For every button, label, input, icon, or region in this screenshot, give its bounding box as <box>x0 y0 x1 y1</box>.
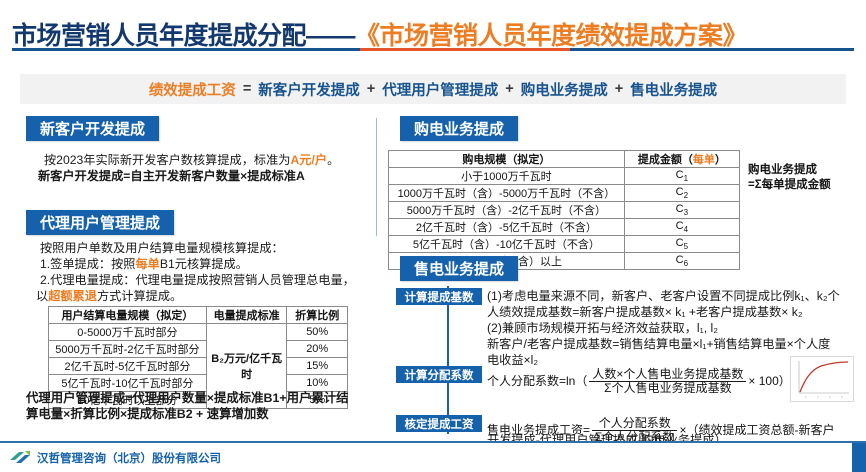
table-row: 2亿千瓦时（含）-5亿千瓦时（不含） C4 <box>389 219 740 236</box>
amount-index: 6 <box>684 259 688 268</box>
title-highlight: 《市场营销人员年度绩效提成方案》 <box>355 22 747 50</box>
step-chip-base: 计算提成基数 <box>396 288 482 305</box>
agent-user-formula-line1: 代理用户管理提成=代理用户数量×提成标准B1+用户累计结 <box>26 390 376 406</box>
coefficient-formula: 个人分配系数=ln（ 人数×个人售电业务提成基数 Σ个人售电业务提成基数 × 1… <box>487 368 791 395</box>
title-text: 市场营销人员年度提成分配——《市场营销人员年度绩效提成方案》 <box>12 16 747 52</box>
section-banner-power-purchase: 购电业务提成 <box>400 116 518 141</box>
cell-scale: 0-5000万千瓦时部分 <box>49 324 207 341</box>
table-row: 5000万千瓦时（含）-2亿千瓦时（不含） C3 <box>389 202 740 219</box>
agent-user-line2: 1.签单提成：按照每单B1元核算提成。 <box>40 256 380 272</box>
title-main: 市场营销人员年度提成分配—— <box>12 22 355 50</box>
agent-user-line1: 按照用户单数及用户结算电量规模核算提成： <box>40 240 380 256</box>
cell-purchase-scale: 1000万千瓦时（含）-5000万千瓦时（不含） <box>389 185 625 202</box>
coefficient-fraction: 人数×个人售电业务提成基数 Σ个人售电业务提成基数 <box>589 368 746 395</box>
col-header-ratio: 折算比例 <box>287 307 348 324</box>
cell-amount: C4 <box>624 219 739 236</box>
power-purchase-note-line2: =Σ每单提成金额 <box>748 178 831 193</box>
amount-symbol: C <box>676 169 684 181</box>
amount-index: 4 <box>684 225 688 234</box>
sale-base-line1: (1)考虑电量来源不同，新客户、老客户设置不同提成比例k₁、k₂个 <box>487 288 866 304</box>
formula-plus-1: + <box>367 81 375 97</box>
table-row: 1000万千瓦时（含）-5000万千瓦时（不含） C2 <box>389 185 740 202</box>
formula-plus-2: + <box>505 81 513 97</box>
coefficient-numerator: 人数×个人售电业务提成基数 <box>589 368 746 382</box>
amount-header-highlight: 每单 <box>693 154 715 166</box>
amount-symbol: C <box>676 186 684 198</box>
table-row: 0-5000万千瓦时部分 B₂万元/亿千瓦时 50% <box>49 324 348 341</box>
agent-user-formula-line2: 算电量×折算比例×提成标准B2 + 速算增加数 <box>26 406 376 422</box>
step-chip-wage: 核定提成工资 <box>396 415 482 432</box>
cell-ratio: 15% <box>287 358 348 375</box>
new-customer-desc-suffix: 。 <box>327 153 339 167</box>
cell-scale: 2亿千瓦时-5亿千瓦时部分 <box>49 358 207 375</box>
table-row: 小于1000万千瓦时 C1 <box>389 168 740 185</box>
col-header-standard: 电量提成标准 <box>206 307 287 324</box>
logo-glyph <box>8 449 32 466</box>
cell-scale: 5000万千瓦时-2亿千瓦时部分 <box>49 341 207 358</box>
formula-term-1: 新客户开发提成 <box>258 79 360 100</box>
svg-text:4: 4 <box>841 395 843 399</box>
table-row: 5000万千瓦时-2亿千瓦时部分 20% <box>49 341 348 358</box>
formula-term-3: 购电业务提成 <box>521 79 608 100</box>
cell-amount: C3 <box>624 202 739 219</box>
col-header-amount: 提成金额（每单） <box>624 151 739 168</box>
sale-base-line2: 人绩效提成基数=新客户提成基数× k₁ +老客户提成基数× k₂ <box>487 304 866 320</box>
power-purchase-note: 购电业务提成 =Σ每单提成金额 <box>748 163 831 193</box>
amount-symbol: C <box>676 203 684 215</box>
amount-index: 1 <box>684 174 688 183</box>
formula-term-2: 代理用户管理提成 <box>382 79 498 100</box>
col-header-scale: 用户结算电量规模（拟定） <box>49 307 207 324</box>
log-curve-icon: 1234 <box>791 357 853 401</box>
wage-numerator: 个人分配系数 <box>592 417 677 431</box>
formula-term-4: 售电业务提成 <box>630 79 717 100</box>
new-customer-desc: 按2023年实际新开发客户数核算提成，标准为A元/户。 <box>44 152 374 168</box>
agent-user-line4: 以超额累退方式计算提成。 <box>36 288 382 304</box>
table-row: 2亿千瓦时-5亿千瓦时部分 15% <box>49 358 348 375</box>
agent-user-line4-b: 方式计算提成。 <box>97 289 182 303</box>
agent-user-line4-highlight: 超额累退 <box>48 289 97 303</box>
svg-text:2: 2 <box>817 395 819 399</box>
amount-index: 3 <box>684 208 688 217</box>
slide-title: 市场营销人员年度提成分配——《市场营销人员年度绩效提成方案》 <box>0 4 866 48</box>
footer-company-name: 汉哲管理咨询（北京）股份有限公司 <box>37 450 221 466</box>
cell-ratio: 20% <box>287 341 348 358</box>
cell-purchase-scale: 5亿千瓦时（含）-10亿千瓦时（不含） <box>389 236 625 253</box>
amount-index: 5 <box>684 242 688 251</box>
title-underline-accent <box>360 48 570 51</box>
svg-text:1: 1 <box>805 395 807 399</box>
cell-purchase-scale: 2亿千瓦时（含）-5亿千瓦时（不含） <box>389 219 625 236</box>
sale-base-line4: 新客户/老客户提成基数=销售结算电量×l₁+销售结算电量×个人度 <box>487 336 866 352</box>
table-header-row: 购电规模（拟定） 提成金额（每单） <box>389 151 740 168</box>
cell-scale: 5亿千瓦时-10亿千瓦时部分 <box>49 375 207 392</box>
new-customer-standard: A元/户 <box>291 153 328 167</box>
log-curve-thumbnail: 1234 <box>790 356 854 402</box>
amount-symbol: C <box>676 237 684 249</box>
formula-equals: = <box>243 81 251 97</box>
agent-user-line2-highlight: 每单 <box>135 257 159 271</box>
cell-purchase-scale: 小于1000万千瓦时 <box>389 168 625 185</box>
footer-corner-accent <box>852 443 866 472</box>
cell-amount: C2 <box>624 185 739 202</box>
amount-index: 2 <box>684 191 688 200</box>
col-header-purchase-scale: 购电规模（拟定） <box>389 151 625 168</box>
svg-text:3: 3 <box>829 395 831 399</box>
cell-purchase-scale: 5000万千瓦时（含）-2亿千瓦时（不含） <box>389 202 625 219</box>
agent-user-line2-a: 1.签单提成：按照 <box>40 257 135 271</box>
amount-symbol: C <box>676 220 684 232</box>
agent-user-line3: 2.代理电量提成：代理电量提成按照营销人员管理总电量， <box>40 272 386 288</box>
amount-header-prefix: 提成金额（ <box>638 154 693 166</box>
cell-ratio: 10% <box>287 375 348 392</box>
section-banner-agent-user: 代理用户管理提成 <box>26 210 174 235</box>
company-logo-icon <box>8 449 32 466</box>
formula-subject: 绩效提成工资 <box>149 79 236 100</box>
amount-header-suffix: ） <box>715 154 726 166</box>
table-header-row: 用户结算电量规模（拟定） 电量提成标准 折算比例 <box>49 307 348 324</box>
slide-root: 市场营销人员年度提成分配——《市场营销人员年度绩效提成方案》 绩效提成工资 = … <box>0 0 866 472</box>
cell-amount: C6 <box>624 253 739 270</box>
coefficient-lead: 个人分配系数=ln（ <box>487 374 587 389</box>
sale-base-line3: (2)兼顾市场规模开拓与经济效益获取，l₁, l₂ <box>487 320 866 336</box>
new-customer-desc-prefix: 按2023年实际新开发客户数核算提成，标准为 <box>44 153 291 167</box>
coefficient-tail: × 100） <box>748 374 790 389</box>
new-customer-formula: 新客户开发提成=自主开发新客户数量×提成标准A <box>38 168 378 184</box>
formula-plus-3: + <box>615 81 623 97</box>
cell-amount: C5 <box>624 236 739 253</box>
agent-user-line4-a: 以 <box>36 289 48 303</box>
cell-ratio: 50% <box>287 324 348 341</box>
table-row: 5亿千瓦时-10亿千瓦时部分 10% <box>49 375 348 392</box>
sell-steps-rail <box>447 286 449 434</box>
summary-formula-bar: 绩效提成工资 = 新客户开发提成 + 代理用户管理提成 + 购电业务提成 + 售… <box>20 74 846 104</box>
table-row: 5亿千瓦时（含）-10亿千瓦时（不含） C5 <box>389 236 740 253</box>
power-purchase-table: 购电规模（拟定） 提成金额（每单） 小于1000万千瓦时 C1 1000万千瓦时… <box>388 150 740 270</box>
agent-user-line2-b: B1元核算提成。 <box>160 257 248 271</box>
cell-amount: C1 <box>624 168 739 185</box>
power-purchase-note-line1: 购电业务提成 <box>748 163 831 178</box>
coefficient-denominator: Σ个人售电业务提成基数 <box>589 382 746 395</box>
amount-symbol: C <box>676 254 684 266</box>
step-chip-coefficient: 计算分配系数 <box>396 366 482 383</box>
section-banner-new-customer: 新客户开发提成 <box>26 116 159 141</box>
section-banner-power-sale: 售电业务提成 <box>400 256 518 281</box>
